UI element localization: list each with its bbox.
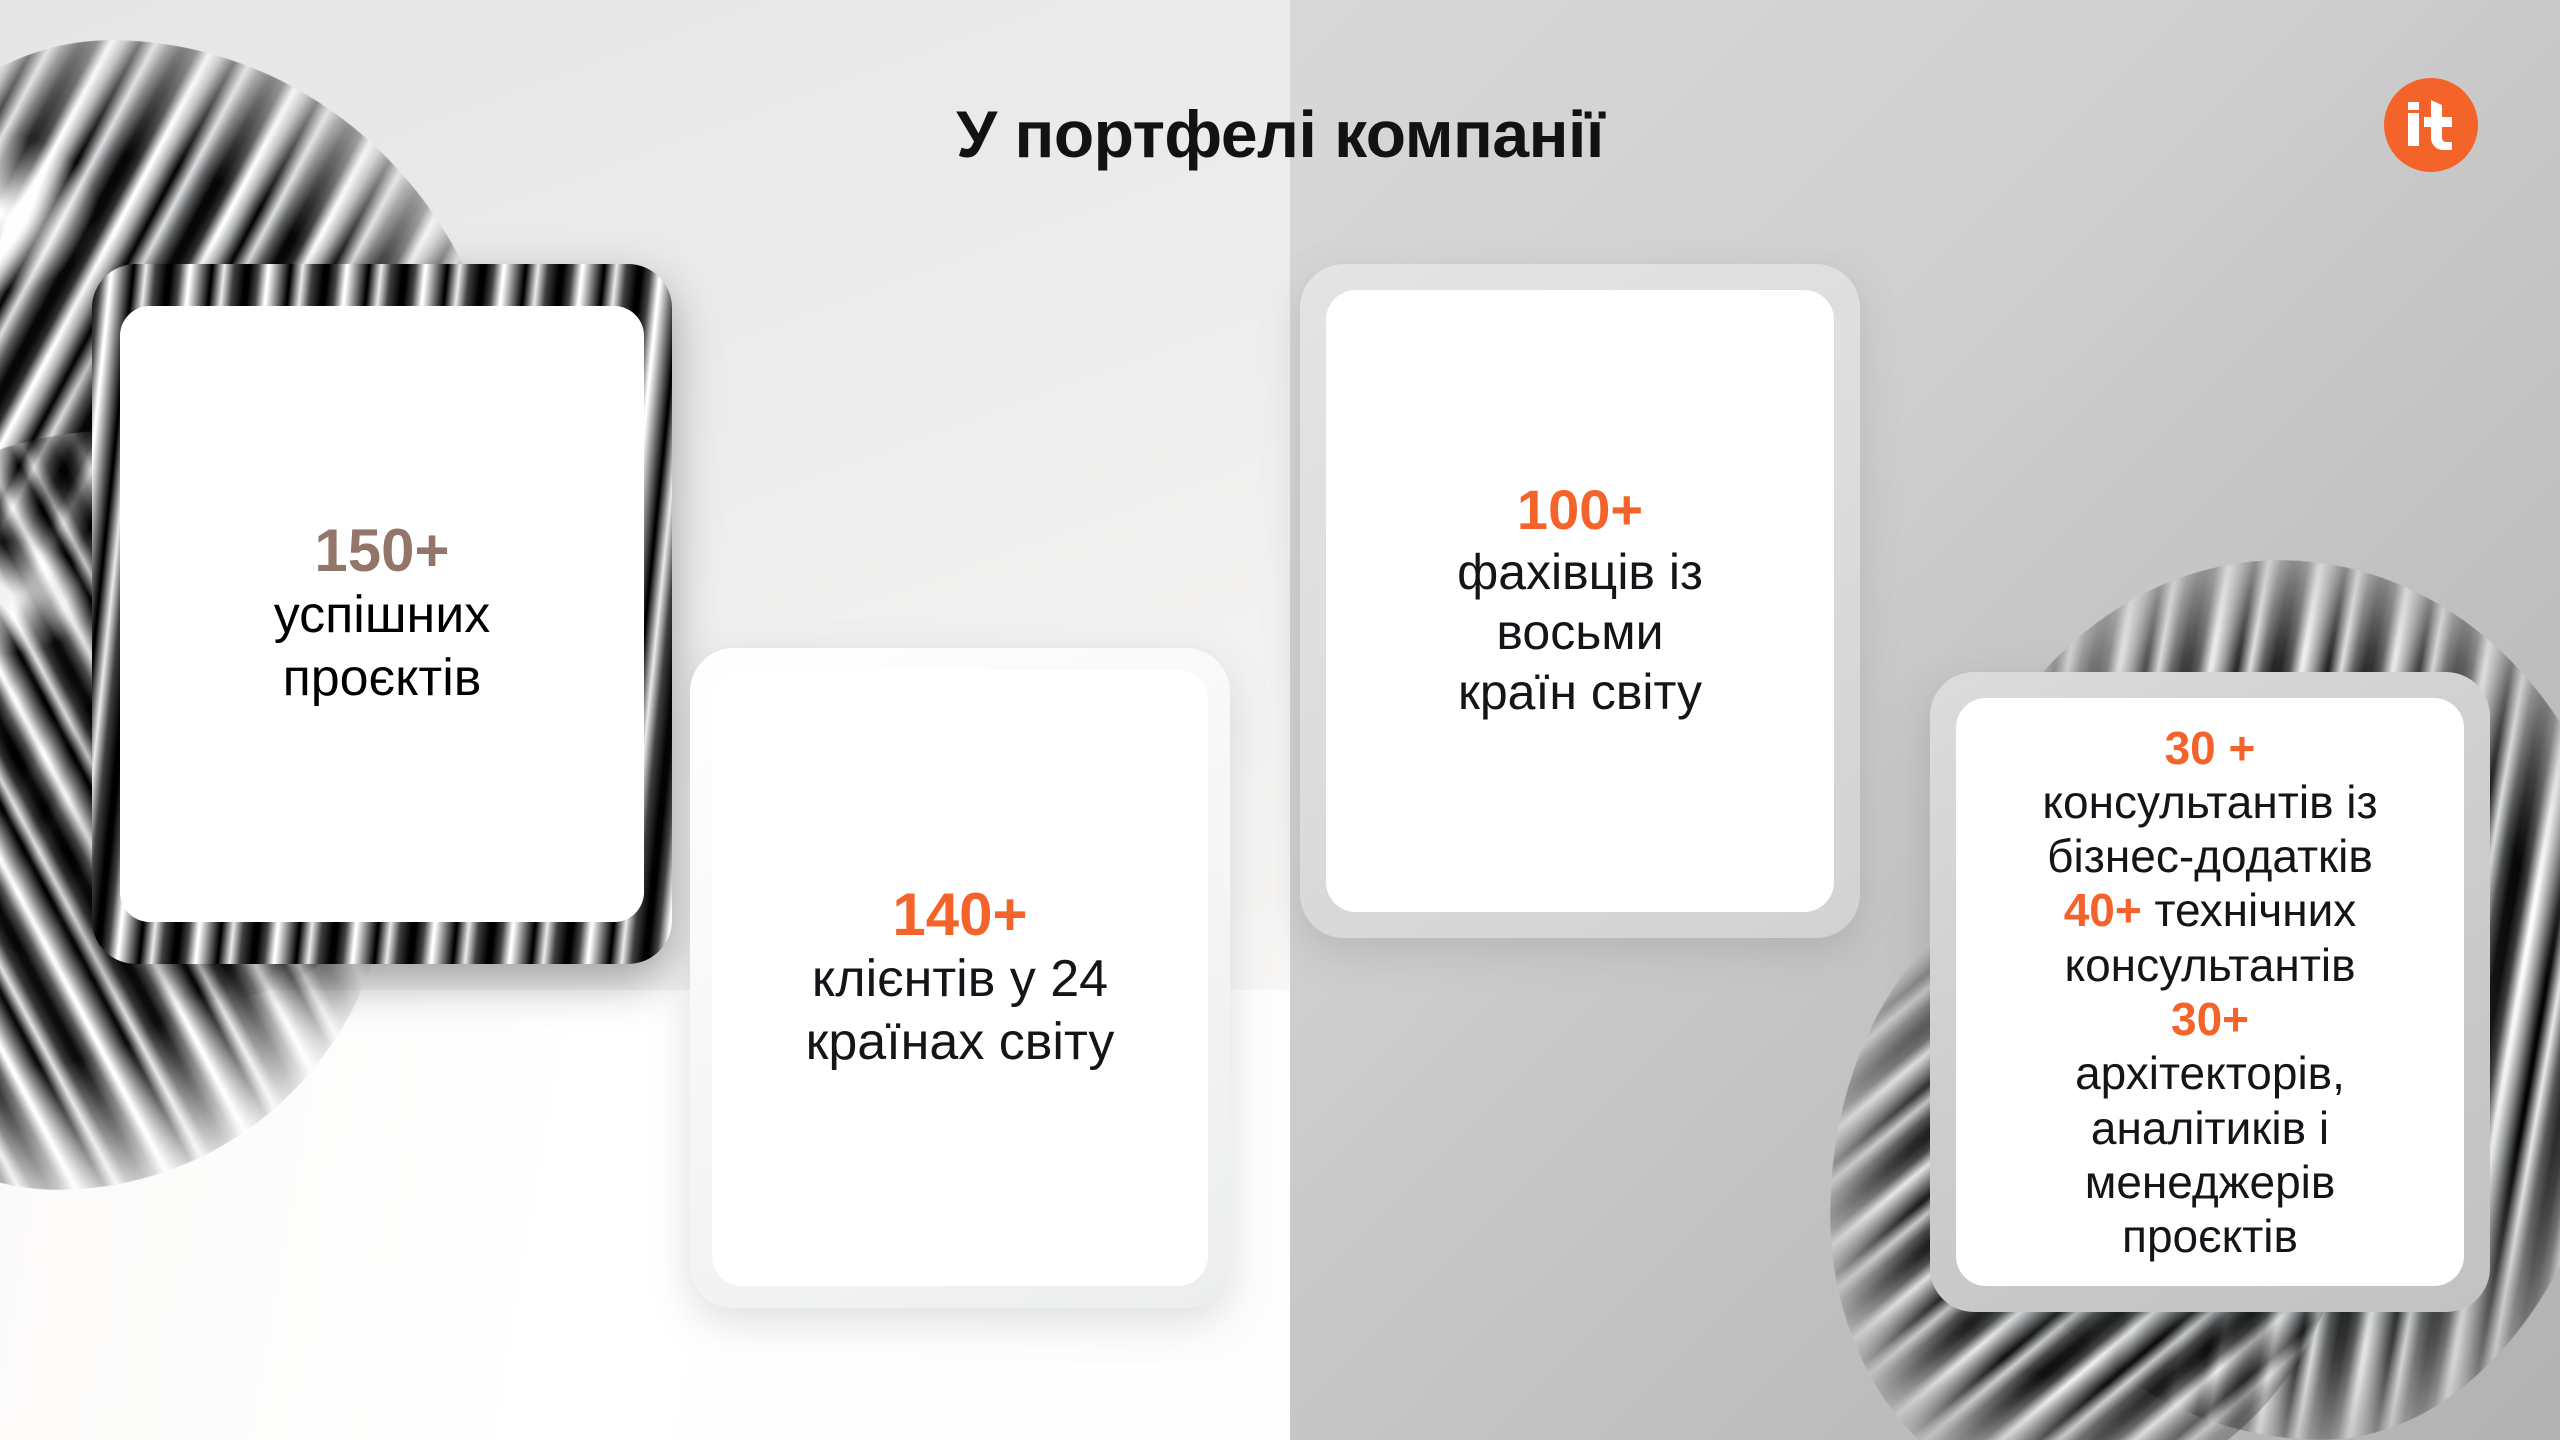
stat-label-line-2: країнах світу bbox=[806, 1011, 1115, 1073]
stat-rich-line: 40+ технічних bbox=[2064, 883, 2357, 937]
stat-label: архітекторів, bbox=[2075, 1047, 2345, 1099]
stat-label: аналітиків і bbox=[2091, 1102, 2329, 1154]
page-title: У портфелі компанії bbox=[0, 96, 2560, 172]
stat-card-inner: 150+ успішних проєктів bbox=[120, 306, 644, 922]
stat-number: 30 + bbox=[2165, 722, 2256, 774]
stat-number: 140+ bbox=[892, 883, 1027, 947]
slide-root: У портфелі компанії 150+ успішних проєкт… bbox=[0, 0, 2560, 1440]
stat-number: 40+ bbox=[2064, 884, 2142, 936]
stat-label-line-1: фахівців із bbox=[1457, 542, 1703, 602]
stat-rich-line: консультантів bbox=[2064, 938, 2355, 992]
stat-rich-line: архітекторів, bbox=[2075, 1046, 2345, 1100]
stat-rich-line: консультантів із bbox=[2042, 775, 2377, 829]
stat-rich-line: бізнес-додатків bbox=[2047, 829, 2373, 883]
stat-rich-line: менеджерів bbox=[2085, 1155, 2336, 1209]
stat-label: технічних bbox=[2142, 884, 2357, 936]
stat-number: 100+ bbox=[1517, 480, 1643, 539]
stat-rich-line: 30 + bbox=[2165, 721, 2256, 775]
stat-card-clients: 140+ клієнтів у 24 країнах світу bbox=[690, 648, 1230, 1308]
stat-label-line-2: проєктів bbox=[283, 647, 482, 709]
stat-card-inner: 140+ клієнтів у 24 країнах світу bbox=[712, 670, 1208, 1286]
stat-card-inner: 100+ фахівців із восьми країн світу bbox=[1326, 290, 1834, 912]
stat-card-specialists: 100+ фахівців із восьми країн світу bbox=[1300, 264, 1860, 938]
stat-label: менеджерів bbox=[2085, 1156, 2336, 1208]
it-logo-mark bbox=[2402, 96, 2460, 154]
stat-card-successful-projects: 150+ успішних проєктів bbox=[92, 264, 672, 964]
stat-rich-line: проєктів bbox=[2122, 1209, 2298, 1263]
stat-label: проєктів bbox=[2122, 1210, 2298, 1262]
stat-number: 150+ bbox=[314, 519, 449, 583]
stat-card-consultants: 30 +консультантів ізбізнес-додатків40+ т… bbox=[1930, 672, 2490, 1312]
stat-number: 30+ bbox=[2171, 993, 2249, 1045]
stat-label: консультантів із bbox=[2042, 776, 2377, 828]
stat-label-line-3: країн світу bbox=[1458, 662, 1702, 722]
stat-label: бізнес-додатків bbox=[2047, 830, 2373, 882]
stat-label-line-1: успішних bbox=[274, 584, 491, 646]
stat-label-line-2: восьми bbox=[1496, 602, 1663, 662]
it-logo bbox=[2384, 78, 2478, 172]
stat-rich-line: аналітиків і bbox=[2091, 1101, 2329, 1155]
stat-label: консультантів bbox=[2064, 939, 2355, 991]
stat-rich-line: 30+ bbox=[2171, 992, 2249, 1046]
stat-card-inner: 30 +консультантів ізбізнес-додатків40+ т… bbox=[1956, 698, 2464, 1286]
stat-label-line-1: клієнтів у 24 bbox=[812, 948, 1108, 1010]
